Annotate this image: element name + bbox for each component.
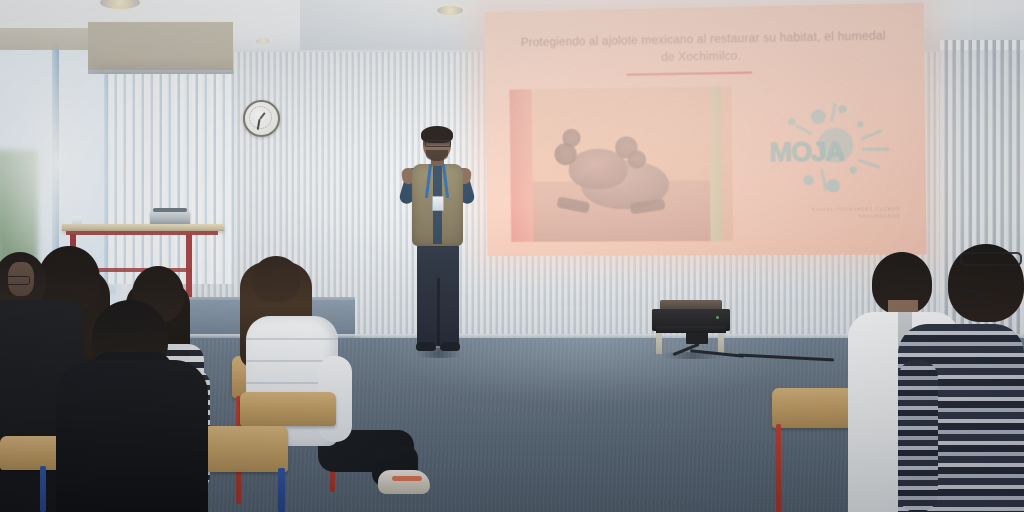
photo-pink-band — [509, 89, 533, 242]
slide-title-underline — [627, 72, 752, 76]
glasses-icon — [960, 252, 1022, 266]
attendee-white-puffer-shoe — [378, 470, 430, 494]
presenter-leg-split — [437, 278, 440, 346]
slide-credit-role: COFUNDADOR — [754, 212, 901, 220]
logo-ray — [860, 129, 883, 141]
slide-title: Protegiendo al ajolote mexicano al resta… — [517, 28, 890, 69]
logo-ray — [858, 159, 881, 169]
glasses-icon — [6, 276, 30, 285]
chair-frame — [776, 424, 781, 512]
glasses-icon — [952, 290, 982, 306]
logo-splash-dot — [826, 179, 840, 192]
side-table-leg — [186, 234, 192, 300]
logo-wordmark: MOJA — [769, 136, 844, 169]
shoe-stripe — [392, 476, 422, 481]
chair-frame — [40, 466, 46, 512]
logo-ray — [795, 124, 813, 135]
presenter-shoe — [440, 342, 460, 351]
logo-ray — [862, 148, 890, 151]
projected-slide: Protegiendo al ajolote mexicano al resta… — [485, 3, 927, 256]
ceiling-downlight-icon — [256, 38, 270, 44]
wall-clock-icon — [243, 100, 280, 137]
chair-frame — [278, 468, 285, 512]
av-status-led-icon — [716, 316, 719, 319]
presenter-beard — [426, 150, 448, 161]
logo-ray — [820, 169, 827, 192]
photo-green-band — [709, 86, 723, 241]
logo-splash-dot — [811, 109, 826, 124]
av-bench-leg — [656, 332, 662, 354]
attendee-patterned-sweater-arm — [898, 360, 938, 512]
logo-splash-dot — [857, 121, 863, 127]
presenter-badge — [432, 196, 444, 211]
slide-photo-axolotl — [509, 86, 733, 242]
av-unit-face — [656, 326, 726, 333]
presenter-shoe — [416, 342, 436, 351]
slide-credit: RAFAEL HERNANDEZ GUZMAN COFUNDADOR — [754, 205, 901, 220]
slide-logo-moja: MOJA — [757, 102, 894, 196]
attendee-white-puffer-head — [252, 256, 300, 302]
side-table-apron — [66, 231, 218, 235]
chair-back[interactable] — [240, 392, 336, 426]
av-bench-leg — [718, 332, 724, 354]
logo-splash-dot — [838, 105, 847, 113]
ceiling-downlight-icon — [437, 6, 463, 15]
glasses-icon — [425, 140, 451, 147]
attendee-black-hoodie-body — [56, 360, 208, 512]
axolotl-gill — [627, 150, 646, 168]
logo-splash-dot — [803, 175, 814, 185]
logo-splash-dot — [849, 166, 856, 173]
presenter — [394, 128, 480, 366]
logo-ray — [830, 103, 837, 122]
table-device-top — [153, 208, 187, 212]
side-table-top — [62, 224, 224, 231]
presentation-room-photo: Protegiendo al ajolote mexicano al resta… — [0, 0, 1024, 512]
axolotl-gill — [562, 129, 580, 147]
logo-splash-dot — [788, 118, 795, 125]
